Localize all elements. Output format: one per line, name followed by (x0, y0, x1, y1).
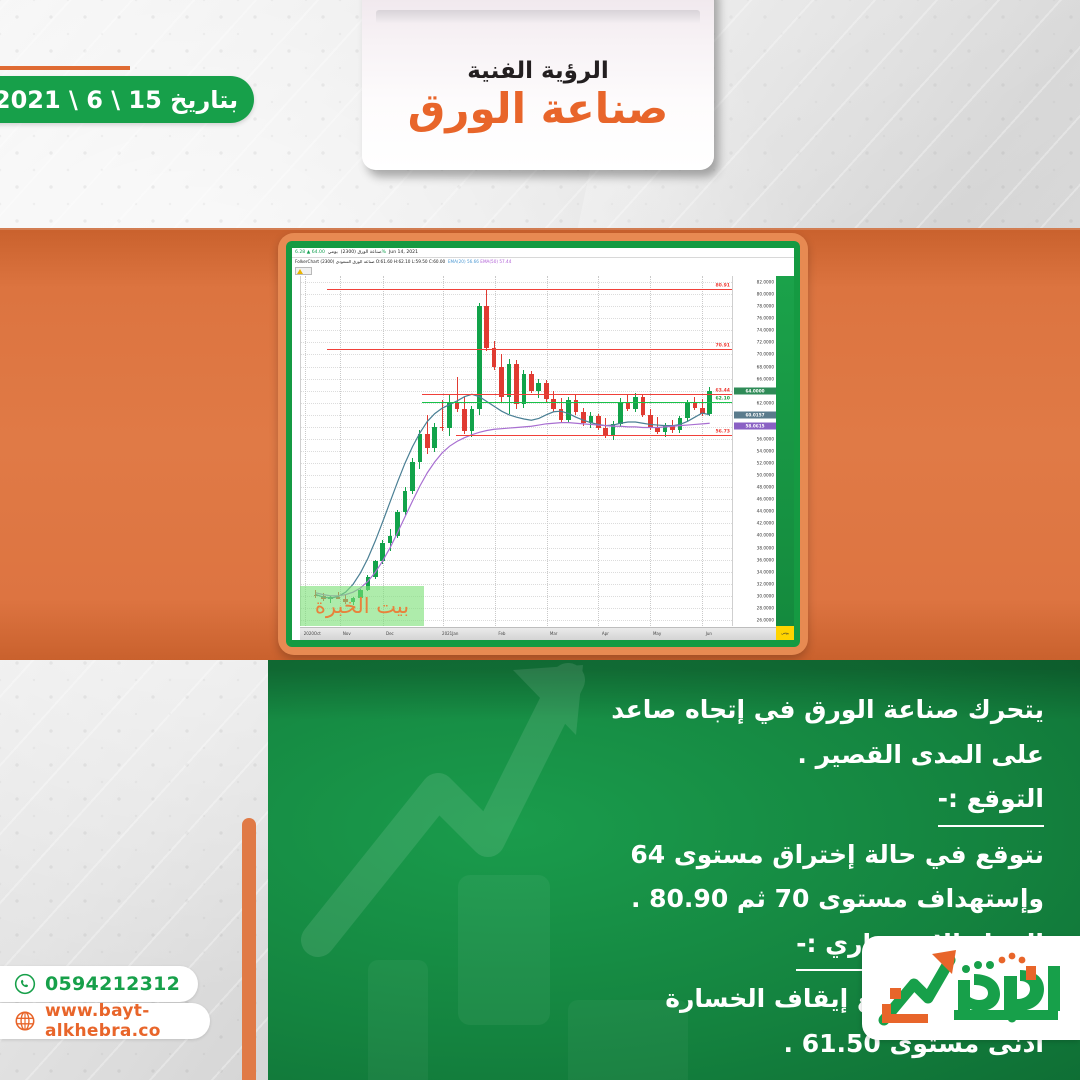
chart-level-line (327, 289, 732, 290)
title-card-sheen (376, 10, 700, 24)
chart-price-tick: 26.0000 (757, 617, 774, 622)
chart-price-tick: 70.0000 (757, 352, 774, 357)
analysis-line-2: على المدى القصير . (304, 733, 1044, 778)
chart-date: Jun 14, 2021 (389, 250, 418, 255)
candle-body (678, 418, 683, 430)
chart-level-label: 80.91 (715, 283, 730, 288)
chart-green-border: صناعة الورق (2300) يومي 64.00 ▲ 6.28% Ju… (286, 241, 800, 647)
candle-body (373, 561, 378, 577)
candle-body (492, 348, 497, 366)
chart-gridline-h (301, 523, 732, 524)
page-title: صناعة الورق (362, 84, 714, 133)
candle-body (581, 412, 586, 423)
brand-logo-card[interactable] (862, 936, 1080, 1040)
chart-price-tick: 62.0000 (757, 400, 774, 405)
chart-close: C:60.00 (429, 259, 445, 264)
candle-body (544, 383, 549, 399)
chart-level-label: 56.73 (715, 429, 730, 434)
chart-price-tick: 56.0000 (757, 436, 774, 441)
chart-gridline-v (702, 276, 703, 626)
chart-gridline-h (301, 294, 732, 295)
chart-price-tick: 80.0000 (757, 292, 774, 297)
chart-gridline-h (301, 535, 732, 536)
chart-price-tick: 54.0000 (757, 449, 774, 454)
candle-body (566, 400, 571, 419)
chart-last-price: 64.00 (312, 250, 325, 255)
chart-gridline-h (301, 439, 732, 440)
candle-body (380, 543, 385, 562)
candle-body (700, 408, 705, 414)
candle-body (403, 491, 408, 512)
chart-level-label: 63.44 (715, 389, 730, 394)
chart-ema20-label: EMA(20) (448, 259, 466, 264)
chart-price-tick: 28.0000 (757, 605, 774, 610)
chart-watermark: بيت الخبرة (300, 586, 424, 626)
chart-gridline-h (301, 475, 732, 476)
analysis-line-1: يتحرك صناعة الورق في إتجاه صاعد (304, 688, 1044, 733)
chart-price-tick: 40.0000 (757, 533, 774, 538)
chart-ema-overlay (301, 276, 732, 626)
chart-price-axis: 82.000080.000078.000076.000074.000072.00… (732, 276, 776, 626)
chart-header-divider (292, 257, 794, 258)
candle-body (470, 409, 475, 431)
candle-body (514, 364, 519, 404)
chart-ema20-value: 56.66 (467, 259, 479, 264)
globe-icon (14, 1010, 36, 1032)
chart-symbol-name: صناعة الورق (357, 250, 381, 255)
whatsapp-icon (14, 973, 36, 995)
chart-gridline-h (301, 451, 732, 452)
chart-time-tick: 2021Jan (442, 631, 458, 636)
chart-symbol-code: (2300) (341, 250, 356, 255)
date-badge: بتاريخ 15 \ 6 \ 2021 (0, 76, 254, 123)
website-url: www.bayt-alkhebra.co (45, 1001, 210, 1041)
chart-gridline-h (301, 499, 732, 500)
phone-number: 0594212312 (45, 973, 180, 995)
chart-price-tick: 38.0000 (757, 545, 774, 550)
chart-price-badge: 58.0615 (734, 423, 776, 430)
chart-gridline-h (301, 354, 732, 355)
chart-gridline-h (301, 572, 732, 573)
chart-ema50-value: 57.44 (499, 259, 511, 264)
chart-price-tick: 34.0000 (757, 569, 774, 574)
candle-body (484, 306, 489, 348)
chart-price-tick: 48.0000 (757, 485, 774, 490)
chart-header-line-1: صناعة الورق (2300) يومي 64.00 ▲ 6.28% Ju… (295, 250, 794, 255)
title-card: الرؤية الفنية صناعة الورق (362, 0, 714, 170)
candle-body (522, 374, 527, 404)
chart-price-tick: 42.0000 (757, 521, 774, 526)
candle-body (432, 427, 437, 448)
chart-plot-area[interactable]: 80.9170.9163.4462.1056.73 (300, 276, 732, 626)
chart-time-tick: Mar (550, 631, 558, 636)
chart-price-tick: 68.0000 (757, 364, 774, 369)
chart-gridline-h (301, 318, 732, 319)
chart-time-axis: 2020OctNovDec2021JanFebMarAprMayJun (300, 627, 776, 640)
candle-body (648, 415, 653, 427)
chart-scroll-rail[interactable] (776, 276, 794, 640)
chart-level-label: 70.91 (715, 343, 730, 348)
contact-phone-pill[interactable]: 0594212312 (0, 966, 198, 1002)
analysis-line-4: وإستهداف مستوى 70 ثم 80.90 . (304, 877, 1044, 922)
chart-canvas[interactable]: صناعة الورق (2300) يومي 64.00 ▲ 6.28% Ju… (292, 248, 794, 640)
chart-frame: صناعة الورق (2300) يومي 64.00 ▲ 6.28% Ju… (278, 233, 808, 655)
chart-gridline-h (301, 463, 732, 464)
brand-logo-mark-icon (862, 936, 1080, 1040)
chart-price-tick: 44.0000 (757, 509, 774, 514)
chart-price-tick: 72.0000 (757, 340, 774, 345)
chart-level-label: 62.10 (715, 397, 730, 402)
candle-body (395, 512, 400, 536)
chart-time-tick: Apr (602, 631, 609, 636)
chart-level-line (327, 349, 732, 350)
chart-time-tick: Dec (386, 631, 394, 636)
orange-accent-bar (242, 818, 256, 1080)
chart-gridline-h (301, 330, 732, 331)
forecast-heading: التوقع :- (938, 777, 1044, 827)
candle-body (410, 462, 415, 491)
chart-level-line (456, 435, 732, 436)
candle-body (507, 364, 512, 397)
chart-gridline-v (305, 276, 306, 626)
date-accent-line (0, 66, 130, 70)
chart-price-tick: 32.0000 (757, 581, 774, 586)
candle-body (440, 427, 445, 428)
candle-body (589, 416, 594, 423)
chart-timeframe-tag[interactable]: يومي (776, 626, 794, 640)
candle-body (618, 402, 623, 425)
candle-body (655, 427, 660, 432)
candle-body (536, 383, 541, 390)
chart-header-line-2: FolkerChart صناعة الورق السعودي (2300) O… (295, 259, 794, 264)
chart-high: H:62.10 (394, 259, 411, 264)
chart-gridline-h (301, 306, 732, 307)
chart-price-tick: 76.0000 (757, 316, 774, 321)
chart-instrument: صناعة الورق السعودي (2300) (320, 259, 374, 264)
candle-body (596, 416, 601, 428)
chart-price-tick: 50.0000 (757, 473, 774, 478)
chart-gridline-v (650, 276, 651, 626)
chart-timeframe: يومي (328, 250, 338, 255)
candle-body (418, 434, 423, 462)
chart-open: O:61.60 (376, 259, 393, 264)
chart-price-tick: 46.0000 (757, 497, 774, 502)
chart-price-tick: 78.0000 (757, 304, 774, 309)
chart-gridline-v (495, 276, 496, 626)
chart-time-tick: Feb (498, 631, 505, 636)
candle-body (425, 434, 430, 448)
chart-gridline-v (547, 276, 548, 626)
poster-root: الرؤية الفنية صناعة الورق بتاريخ 15 \ 6 … (0, 0, 1080, 1080)
candle-body (499, 367, 504, 397)
candle-body (551, 399, 556, 409)
candle-body (529, 374, 534, 391)
chart-price-tick: 74.0000 (757, 328, 774, 333)
candle-body (685, 403, 690, 419)
chart-price-tick: 66.0000 (757, 376, 774, 381)
contact-website-pill[interactable]: www.bayt-alkhebra.co (0, 1003, 210, 1039)
chart-time-tick: Jun (706, 631, 712, 636)
change-up-arrow-icon: ▲ (307, 250, 311, 255)
candle-body (670, 426, 675, 431)
chart-alert-toolbox[interactable] (295, 267, 312, 275)
chart-time-tick: May (653, 631, 661, 636)
chart-level-line (422, 394, 732, 395)
chart-gridline-h (301, 415, 732, 416)
chart-gridline-h (301, 342, 732, 343)
candle-body (447, 402, 452, 429)
chart-level-line (422, 402, 732, 403)
chart-gridline-h (301, 511, 732, 512)
chart-gridline-h (301, 548, 732, 549)
header-subtitle: الرؤية الفنية (362, 58, 714, 84)
chart-price-badge: 64.0000 (734, 387, 776, 394)
candle-body (663, 426, 668, 432)
chart-price-tick: 52.0000 (757, 461, 774, 466)
chart-gridline-h (301, 282, 732, 283)
chart-time-tick: 2020Oct (304, 631, 321, 636)
candle-body (559, 409, 564, 420)
chart-source: FolkerChart (295, 259, 319, 264)
chart-gridline-v (340, 276, 341, 626)
chart-price-tick: 30.0000 (757, 593, 774, 598)
analysis-line-3: نتوقع في حالة إختراق مستوى 64 (304, 833, 1044, 878)
brand-logo (862, 936, 1080, 1040)
chart-ema50-label: EMA(50) (480, 259, 498, 264)
candle-body (641, 397, 646, 415)
candle-body (693, 403, 698, 408)
chart-gridline-v (443, 276, 444, 626)
chart-price-tick: 82.0000 (757, 280, 774, 285)
chart-gridline-v (598, 276, 599, 626)
chart-gridline-h (301, 487, 732, 488)
chart-gridline-v (383, 276, 384, 626)
candle-body (388, 536, 393, 543)
candle-body (462, 409, 467, 431)
chart-price-tick: 36.0000 (757, 557, 774, 562)
chart-gridline-h (301, 560, 732, 561)
chart-time-tick: Nov (343, 631, 351, 636)
chart-price-badge: 60.0157 (734, 411, 776, 418)
chart-low: L:59.50 (412, 259, 428, 264)
